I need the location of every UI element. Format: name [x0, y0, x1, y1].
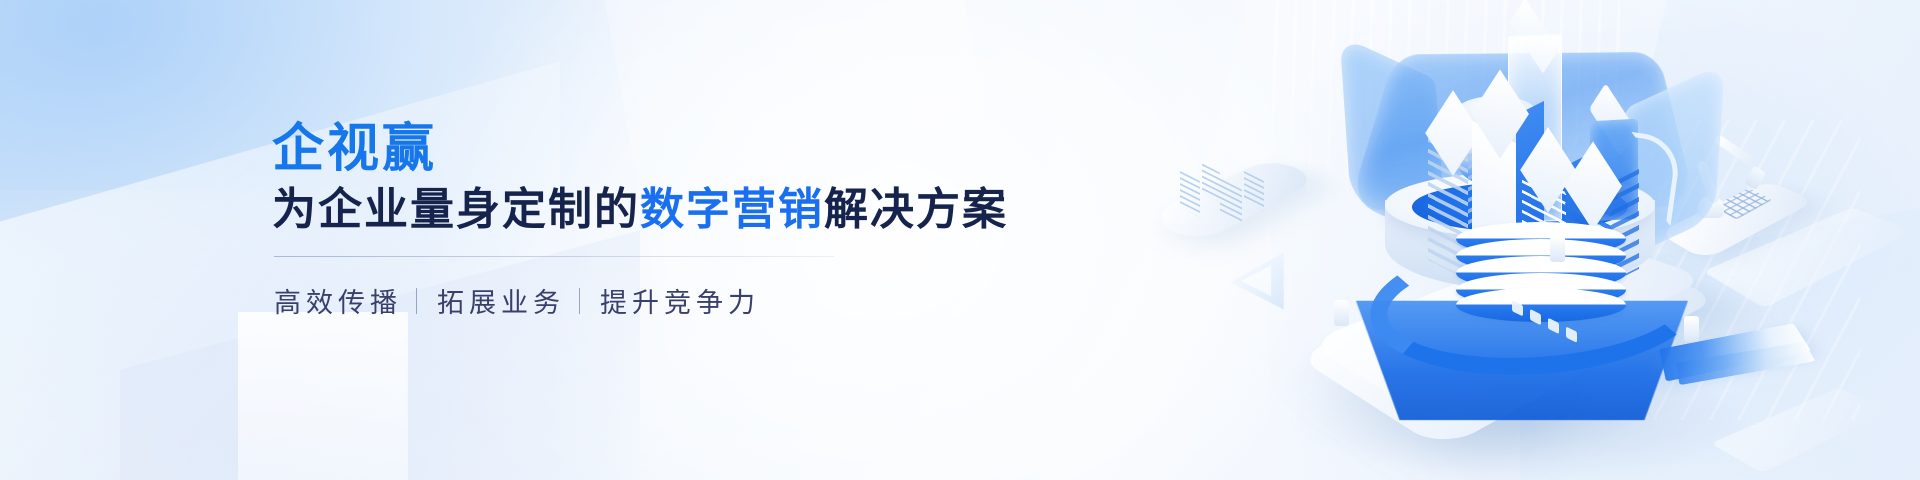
background-facet-c [238, 312, 408, 480]
hero-copy-block: 企视赢 为企业量身定制的数字营销解决方案 高效传播 拓展业务 提升竞争力 [272, 122, 1032, 320]
hero-headline: 为企业量身定制的数字营销解决方案 [272, 185, 1032, 234]
tagline-separator-1 [416, 288, 417, 314]
hero-illustration [1120, 0, 1920, 480]
tagline-item-3: 提升竞争力 [600, 281, 760, 320]
slab-peg-mid [1550, 236, 1565, 262]
headline-prefix: 为企业量身定制的 [272, 185, 640, 234]
disc-stack [1456, 222, 1626, 310]
divider-rule [274, 256, 834, 257]
hero-tagline: 高效传播 拓展业务 提升竞争力 [274, 281, 1032, 320]
marketing-hero-banner: 企视赢 为企业量身定制的数字营销解决方案 高效传播 拓展业务 提升竞争力 [0, 0, 1920, 480]
tagline-item-1: 高效传播 [274, 281, 402, 320]
headline-highlight: 数字营销 [640, 185, 824, 234]
brand-name: 企视赢 [272, 122, 1032, 177]
slab-peg-left [1334, 300, 1349, 326]
tagline-separator-2 [579, 288, 580, 314]
tagline-item-2: 拓展业务 [437, 281, 565, 320]
slab-peg-right [1684, 316, 1699, 342]
headline-suffix: 解决方案 [824, 185, 1008, 234]
